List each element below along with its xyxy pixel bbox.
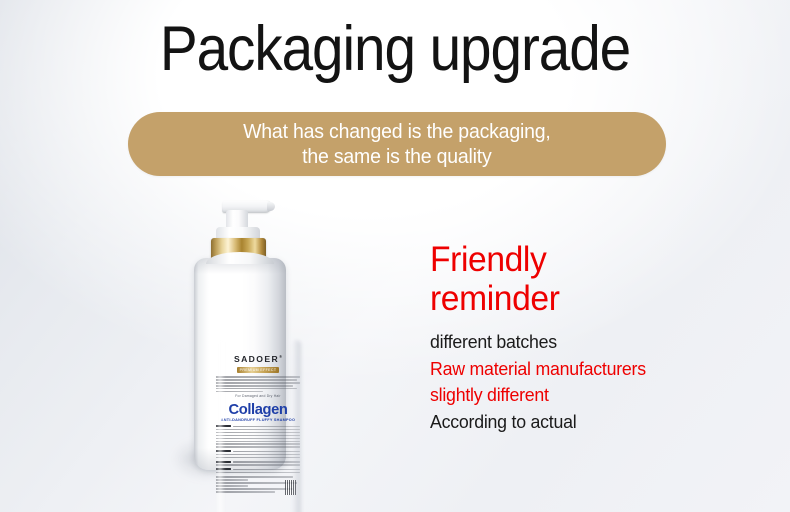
bottle-body: SADOER® PREMIUM EFFECT For Damaged and D… — [194, 258, 286, 470]
label-text-line — [216, 379, 297, 381]
ingredient-text — [216, 432, 300, 434]
friendly-reminder-block: Friendly reminder different batches Raw … — [430, 240, 730, 435]
label-footer-line — [216, 476, 293, 478]
usage-line — [216, 457, 300, 459]
note-text — [233, 469, 300, 471]
ingredient-text — [216, 438, 300, 440]
bottle-highlight-left — [218, 338, 225, 512]
ingredient-text — [216, 446, 300, 448]
bottle-highlight-right — [292, 340, 301, 512]
usage-text — [216, 457, 300, 459]
note-line — [216, 472, 300, 474]
label-text-line — [216, 382, 300, 384]
label-footer-line — [216, 488, 293, 490]
usage-line — [216, 454, 300, 456]
ingredient-text — [233, 426, 300, 428]
tagline-banner-text: What has changed is the packaging, the s… — [243, 119, 551, 169]
product-tagline-above: For Damaged and Dry Hair — [216, 394, 300, 398]
ingredient-line — [216, 441, 300, 443]
ingredient-text — [216, 435, 300, 437]
storage-text — [216, 464, 300, 466]
brand-name: SADOER® — [216, 354, 300, 364]
ingredient-line — [216, 425, 300, 427]
note-text — [216, 472, 300, 474]
tagline-line-1: What has changed is the packaging, — [243, 119, 551, 144]
reminder-line: slightly different — [430, 382, 718, 409]
reminder-line: Raw material manufacturers — [430, 356, 718, 383]
ingredient-text — [216, 441, 300, 443]
bottle-label: SADOER® PREMIUM EFFECT For Damaged and D… — [216, 354, 300, 494]
usage-line — [216, 450, 300, 452]
ingredient-line — [216, 446, 300, 448]
tagline-banner: What has changed is the packaging, the s… — [128, 112, 666, 176]
label-description-block — [216, 376, 300, 392]
note-line — [216, 468, 300, 470]
ingredient-text — [216, 429, 300, 431]
label-footer-block — [216, 476, 300, 492]
reminder-line: different batches — [430, 329, 718, 356]
storage-line — [216, 461, 300, 463]
friendly-reminder-heading-line-1: Friendly — [430, 240, 718, 279]
ingredient-line — [216, 429, 300, 431]
product-subtitle: ANTI-DANDRUFF FLUFFY SHAMPOO — [216, 418, 300, 422]
page-title: Packaging upgrade — [40, 17, 751, 81]
ingredient-line — [216, 438, 300, 440]
usage-text — [216, 454, 300, 456]
ingredients-block — [216, 425, 300, 473]
storage-text — [233, 461, 300, 463]
tagline-line-2: the same is the quality — [243, 144, 551, 169]
ingredient-line — [216, 435, 300, 437]
brand-name-text: SADOER — [234, 354, 279, 364]
label-text-line — [216, 388, 297, 390]
premium-badge-label: PREMIUM EFFECT — [237, 367, 279, 374]
label-text-line — [216, 376, 300, 378]
ingredient-line — [216, 432, 300, 434]
friendly-reminder-heading: Friendly reminder — [430, 240, 718, 318]
ingredient-text — [216, 443, 300, 445]
registered-mark: ® — [279, 354, 282, 359]
friendly-reminder-lines: different batches Raw material manufactu… — [430, 329, 730, 435]
premium-badge: PREMIUM EFFECT — [237, 367, 279, 374]
friendly-reminder-heading-line-2: reminder — [430, 279, 718, 318]
reminder-line: According to actual — [430, 409, 718, 436]
label-text-line — [216, 385, 293, 387]
product-bottle: SADOER® PREMIUM EFFECT For Damaged and D… — [176, 186, 306, 486]
usage-text — [233, 451, 300, 453]
promo-banner-image: Packaging upgrade What has changed is th… — [0, 0, 790, 512]
storage-line — [216, 464, 300, 466]
product-name: Collagen — [217, 402, 299, 417]
ingredient-line — [216, 443, 300, 445]
